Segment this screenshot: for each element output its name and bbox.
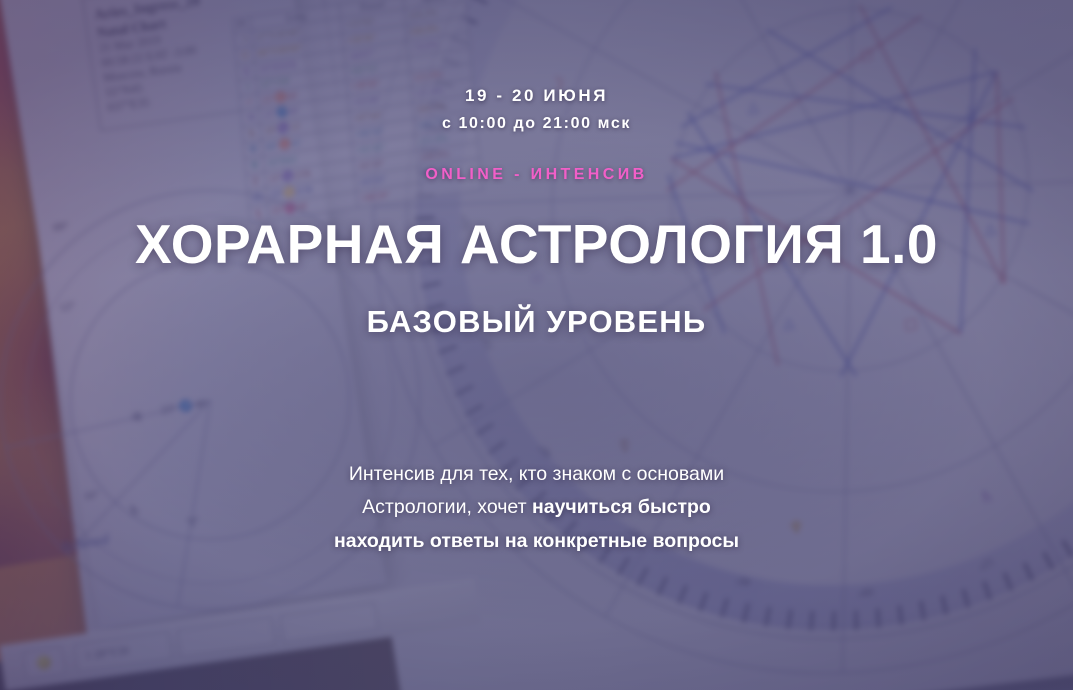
hero-banner: △□△□△□△ 30°01°11°22°12°09°48°23°40°19°51… bbox=[0, 0, 1073, 690]
event-date: 19 - 20 ИЮНЯ bbox=[465, 86, 608, 106]
page-title: ХОРАРНАЯ АСТРОЛОГИЯ 1.0 bbox=[135, 216, 938, 274]
description-line-1: Интенсив для тех, кто знаком с основами bbox=[334, 458, 739, 492]
page-subtitle: БАЗОВЫЙ УРОВЕНЬ bbox=[367, 304, 707, 340]
event-time: с 10:00 до 21:00 мск bbox=[442, 115, 631, 133]
hero-content: 19 - 20 ИЮНЯ с 10:00 до 21:00 мск ONLINE… bbox=[0, 0, 1073, 690]
format-badge: ONLINE - ИНТЕНСИВ bbox=[425, 166, 647, 184]
description-line-2: Астрологии, хочет научиться быстро bbox=[334, 491, 739, 525]
description-line-3: находить ответы на конкретные вопросы bbox=[334, 525, 739, 559]
course-description: Интенсив для тех, кто знаком с основамиА… bbox=[334, 458, 739, 559]
